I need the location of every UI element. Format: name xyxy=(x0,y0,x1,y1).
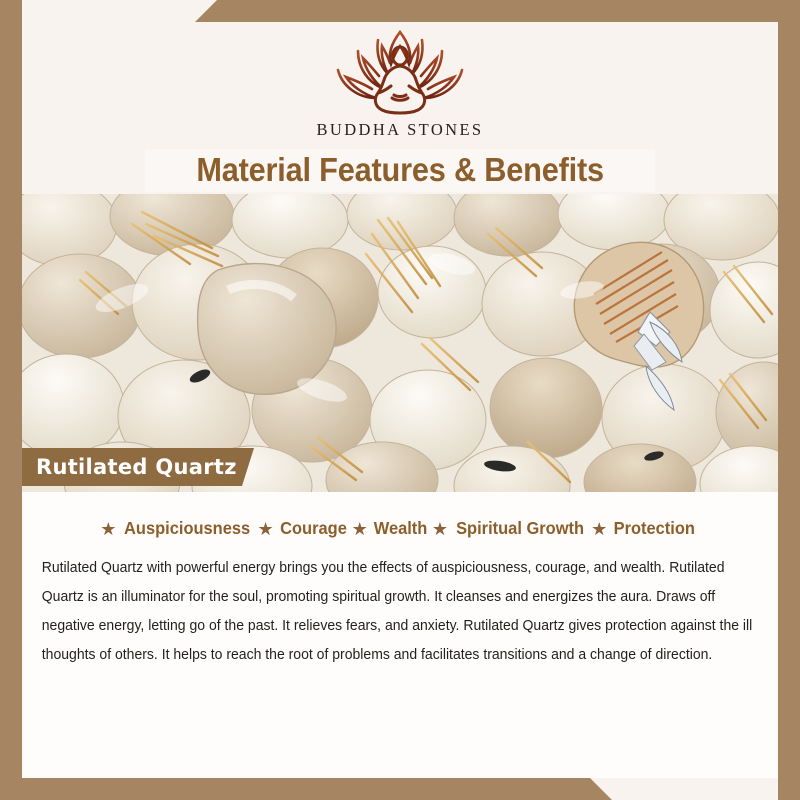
star-icon: ★ xyxy=(258,520,274,538)
product-infographic: BUDDHA STONES Material Features & Benefi… xyxy=(0,0,800,800)
benefits-list: ★ Auspiciousness ★ Courage ★ Wealth ★ Sp… xyxy=(36,518,762,539)
benefit-label: Auspiciousness xyxy=(124,518,250,539)
benefit-item: ★ Protection xyxy=(591,518,698,539)
page-title-text: Material Features & Benefits xyxy=(196,151,604,189)
description-text: Rutilated Quartz with powerful energy br… xyxy=(36,554,772,670)
benefit-label: Wealth xyxy=(374,518,428,539)
content-panel: ★ Auspiciousness ★ Courage ★ Wealth ★ Sp… xyxy=(22,492,778,778)
product-label-banner: Rutilated Quartz xyxy=(22,448,254,486)
lotus-meditation-icon xyxy=(312,26,488,118)
brand-name: BUDDHA STONES xyxy=(316,120,483,140)
benefit-item: ★ Courage xyxy=(258,518,349,539)
product-photo xyxy=(22,194,778,492)
benefit-label: Protection xyxy=(614,518,695,539)
star-icon: ★ xyxy=(591,520,607,538)
page-title: Material Features & Benefits xyxy=(145,149,655,192)
frame-left-strip xyxy=(0,0,22,778)
header: BUDDHA STONES Material Features & Benefi… xyxy=(22,22,778,194)
star-icon: ★ xyxy=(432,520,448,538)
benefit-label: Spiritual Growth xyxy=(456,518,584,539)
product-label-text: Rutilated Quartz xyxy=(22,455,237,479)
frame-bottom-left-band xyxy=(0,778,800,800)
benefit-item: ★ Wealth xyxy=(352,518,429,539)
star-icon: ★ xyxy=(352,520,368,538)
benefit-item: ★ Spiritual Growth xyxy=(432,518,588,539)
benefit-label: Courage xyxy=(280,518,347,539)
benefit-item: ★ Auspiciousness xyxy=(100,518,254,539)
frame-right-strip xyxy=(778,22,800,800)
star-icon: ★ xyxy=(100,520,116,538)
frame-top-right-band xyxy=(0,0,800,22)
